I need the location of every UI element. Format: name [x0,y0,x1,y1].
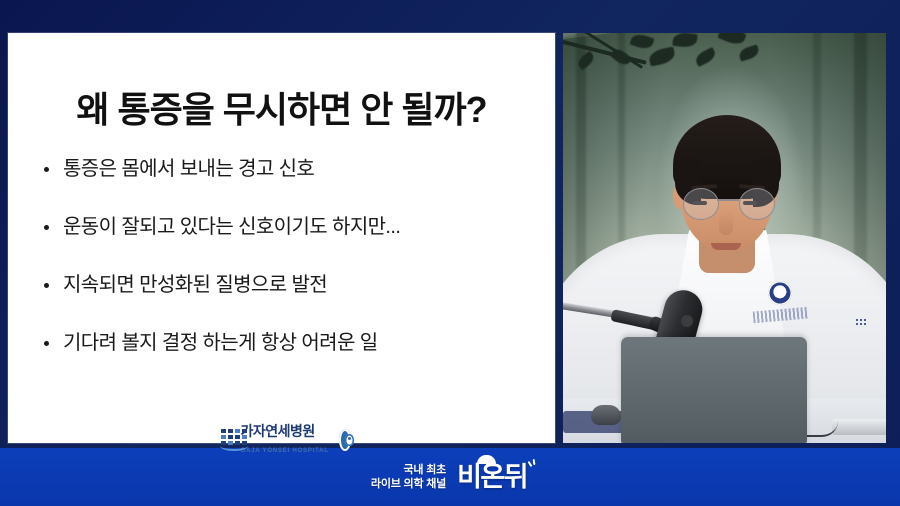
bullet-item: 기다려 볼지 결정 하는게 항상 어려운 일 [44,329,534,387]
sleeve-logo-icon [856,319,882,331]
bullet-dot-icon [44,167,49,172]
brand-tagline: 국내 최초 라이브 의학 채널 [371,463,446,491]
tagline-line-1: 국내 최초 [371,463,446,477]
brand-logo-text: 비온뒤 [457,462,527,492]
bullet-text: 운동이 잘되고 있다는 신호이기도 하지만... [63,213,400,241]
brand-logo: 비온뒤 [455,463,529,491]
slide-bullet-list: 통증은 몸에서 보내는 경고 신호 운동이 잘되고 있다는 신호이기도 하지만.… [44,155,534,387]
nose [719,211,733,235]
umbrella-icon [477,455,496,465]
bullet-text: 기다려 볼지 결정 하는게 항상 어려운 일 [63,329,378,357]
hospital-name-en: GAJA YONSEI HOSPITAL [241,448,329,454]
screen: 왜 통증을 무시하면 안 될까? 통증은 몸에서 보내는 경고 신호 운동이 잘… [0,0,900,506]
slide-title: 왜 통증을 무시하면 안 될까? [8,81,555,133]
hospital-emblem-icon [339,429,351,451]
bullet-dot-icon [44,225,49,230]
live-video-panel[interactable] [563,33,886,443]
laptop [621,337,807,443]
computer-mouse [591,405,621,425]
bullet-item: 지속되면 만성화된 질병으로 발전 [44,271,534,329]
hospital-name-kr: 가자연세병원 [241,423,315,439]
brand-band: 국내 최초 라이브 의학 채널 비온뒤 [0,448,900,506]
hospital-logo-text: 가자연세병원 GAJA YONSEI HOSPITAL [241,424,334,456]
bullet-text: 통증은 몸에서 보내는 경고 신호 [63,155,314,183]
bullet-item: 통증은 몸에서 보내는 경고 신호 [44,155,534,213]
hospital-building-icon [221,428,236,452]
presentation-slide: 왜 통증을 무시하면 안 될까? 통증은 몸에서 보내는 경고 신호 운동이 잘… [8,33,555,443]
hospital-logo: 가자연세병원 GAJA YONSEI HOSPITAL [221,424,351,456]
bullet-item: 운동이 잘되고 있다는 신호이기도 하지만... [44,213,534,271]
rays-icon [528,459,538,471]
tagline-line-2: 라이브 의학 채널 [371,477,446,491]
bullet-dot-icon [44,341,49,346]
bullet-text: 지속되면 만성화된 질병으로 발전 [63,271,327,299]
microphone-knob [681,315,693,327]
desk-gadget [832,419,886,435]
bullet-dot-icon [44,283,49,288]
mouth [711,243,741,250]
